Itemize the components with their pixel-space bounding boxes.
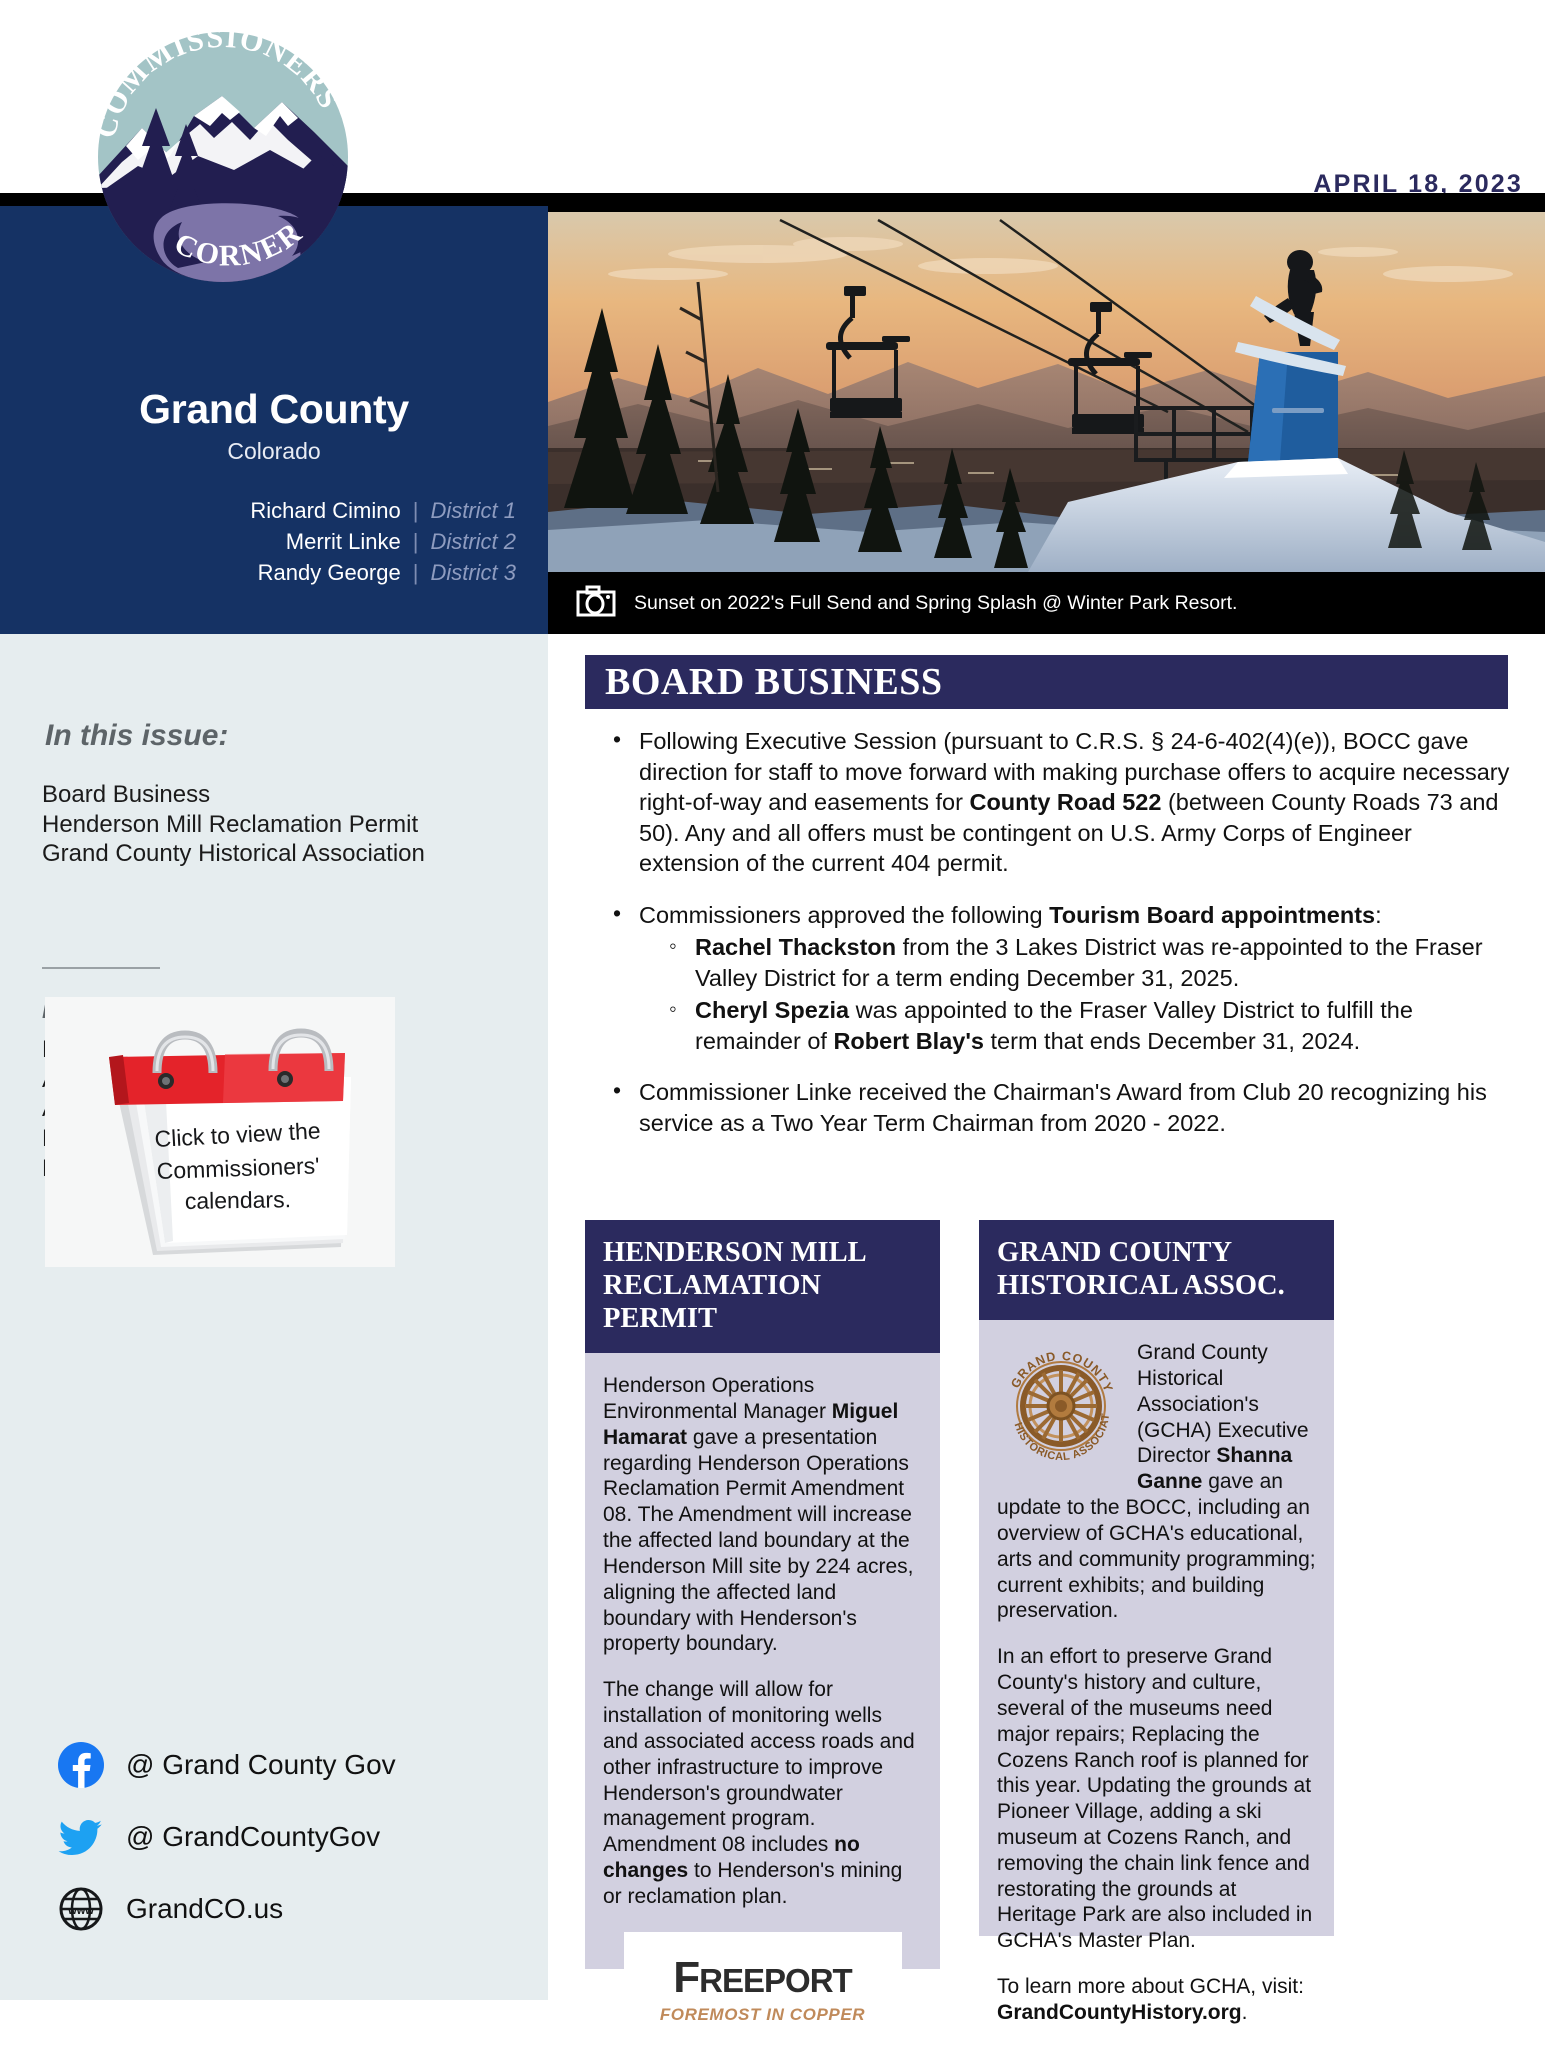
- facebook-icon[interactable]: [58, 1742, 104, 1788]
- gcha-panel: GRAND COUNTY HISTORICAL ASSOC.: [979, 1220, 1334, 1936]
- bullet-item: Commissioner Linke received the Chairman…: [621, 1077, 1515, 1138]
- svg-text:www: www: [67, 1905, 94, 1917]
- bullet2-bold: Tourism Board appointments: [1049, 902, 1375, 928]
- in-this-issue-label: In this issue:: [45, 719, 228, 753]
- social-links: @ Grand County Gov @ GrandCountyGov www: [58, 1742, 396, 1958]
- bullet1-bold: County Road 522: [969, 789, 1161, 815]
- commissioner-row: Merrit Linke | District 2: [0, 529, 516, 555]
- henderson-body: Henderson Operations Environmental Manag…: [585, 1353, 940, 1969]
- commissioner-separator: |: [413, 498, 419, 524]
- sidebar: In this issue: Board Business Henderson …: [0, 634, 548, 2000]
- commissioner-separator: |: [413, 529, 419, 555]
- website-handle[interactable]: GrandCO.us: [126, 1893, 283, 1925]
- calendar-line3: calendars.: [185, 1186, 292, 1214]
- henderson-panel: HENDERSON MILL RECLAMATION PERMIT Hender…: [585, 1220, 940, 1969]
- toc-item[interactable]: Henderson Mill Reclamation Permit: [42, 812, 425, 838]
- sub-bullet-item: Rachel Thackston from the 3 Lakes Distri…: [679, 932, 1515, 993]
- commissioners-calendar-link[interactable]: Click to view the Commissioners' calenda…: [45, 997, 395, 1267]
- sub1-bold: Rachel Thackston: [695, 934, 896, 960]
- social-row-facebook[interactable]: @ Grand County Gov: [58, 1742, 396, 1788]
- commissioner-district: District 1: [430, 498, 516, 524]
- commissioner-row: Randy George | District 3: [0, 560, 516, 586]
- freeport-logo: FREEPORT FOREMOST IN COPPER: [624, 1932, 902, 2050]
- commissioner-name: Merrit Linke: [286, 529, 401, 555]
- toc-item[interactable]: Board Business: [42, 782, 425, 808]
- commissioner-name: Richard Cimino: [250, 498, 400, 524]
- henderson-header: HENDERSON MILL RECLAMATION PERMIT: [585, 1220, 940, 1353]
- toc-divider: [42, 967, 160, 969]
- sub-bullet-item: Cheryl Spezia was appointed to the Frase…: [679, 995, 1515, 1056]
- henderson-para1: Henderson Operations Environmental Manag…: [603, 1373, 922, 1657]
- gcha-para2: In an effort to preserve Grand County's …: [997, 1644, 1316, 1954]
- commissioner-separator: |: [413, 560, 419, 586]
- board-business-bullets: Following Executive Session (pursuant to…: [585, 726, 1515, 1160]
- photo-caption-bar: Sunset on 2022's Full Send and Spring Sp…: [548, 572, 1545, 634]
- facebook-handle[interactable]: @ Grand County Gov: [126, 1749, 396, 1781]
- state-name: Colorado: [0, 438, 548, 465]
- photo-caption-text: Sunset on 2022's Full Send and Spring Sp…: [634, 592, 1237, 615]
- sub2-bold2: Robert Blay's: [833, 1028, 984, 1054]
- sub2-bold: Cheryl Spezia: [695, 997, 849, 1023]
- henderson-para2: The change will allow for installation o…: [603, 1677, 922, 1909]
- social-row-twitter[interactable]: @ GrandCountyGov: [58, 1814, 396, 1860]
- commissioner-district: District 3: [430, 560, 516, 586]
- gcha-para3-pre: To learn more about GCHA, visit:: [997, 1975, 1304, 1998]
- county-name: Grand County: [0, 386, 548, 433]
- gcha-title-line1: GRAND COUNTY: [997, 1236, 1318, 1269]
- commissioner-name: Randy George: [258, 560, 401, 586]
- gcha-body: GRAND COUNTY HISTORICAL ASSOCIATION Gran…: [979, 1320, 1334, 1936]
- wagon-wheel-logo: GRAND COUNTY HISTORICAL ASSOCIATION: [997, 1342, 1125, 1470]
- main-content: BOARD BUSINESS Following Executive Sessi…: [548, 634, 1545, 2000]
- commissioner-row: Richard Cimino | District 1: [0, 498, 516, 524]
- gcha-header: GRAND COUNTY HISTORICAL ASSOC.: [979, 1220, 1334, 1320]
- board-business-header: BOARD BUSINESS: [585, 655, 1508, 709]
- commissioners-corner-logo: COMMISSIONERS CORNER: [82, 16, 364, 298]
- henderson-para2-pre: The change will allow for installation o…: [603, 1678, 915, 1856]
- freeport-wordmark: FREEPORT: [673, 1956, 851, 2000]
- globe-icon[interactable]: www: [58, 1886, 104, 1932]
- gcha-website-link[interactable]: GrandCountyHistory.org: [997, 2001, 1242, 2024]
- toc-list-page1: Board Business Henderson Mill Reclamatio…: [42, 782, 425, 871]
- hero-photo-block: Sunset on 2022's Full Send and Spring Sp…: [548, 206, 1545, 634]
- sub2-post: term that ends December 31, 2024.: [984, 1028, 1360, 1054]
- social-row-website[interactable]: www GrandCO.us: [58, 1886, 396, 1932]
- twitter-handle[interactable]: @ GrandCountyGov: [126, 1821, 380, 1853]
- freeport-wordmark-first: F: [673, 1953, 699, 2002]
- commissioner-list: Richard Cimino | District 1 Merrit Linke…: [0, 498, 548, 591]
- henderson-para1-post: gave a presentation regarding Henderson …: [603, 1426, 913, 1656]
- gcha-para3-post: .: [1242, 2001, 1248, 2024]
- bullet2-pre: Commissioners approved the following: [639, 902, 1049, 928]
- gcha-title-line2: HISTORICAL ASSOC.: [997, 1269, 1318, 1302]
- freeport-wordmark-rest: REEPORT: [699, 1962, 852, 1999]
- freeport-tagline: FOREMOST IN COPPER: [660, 2005, 865, 2026]
- twitter-icon[interactable]: [58, 1814, 104, 1860]
- camera-icon: [576, 585, 616, 622]
- henderson-para1-pre: Henderson Operations Environmental Manag…: [603, 1374, 832, 1423]
- henderson-title-line1: HENDERSON MILL: [603, 1236, 924, 1269]
- commissioner-district: District 2: [430, 529, 516, 555]
- ski-resort-photo: [548, 212, 1545, 572]
- henderson-title-line2: RECLAMATION PERMIT: [603, 1269, 924, 1335]
- toc-item[interactable]: Grand County Historical Association: [42, 841, 425, 867]
- bullet-item: Following Executive Session (pursuant to…: [621, 726, 1515, 879]
- bullet2-post: :: [1375, 902, 1382, 928]
- bullet-item: Commissioners approved the following Tou…: [621, 900, 1515, 1057]
